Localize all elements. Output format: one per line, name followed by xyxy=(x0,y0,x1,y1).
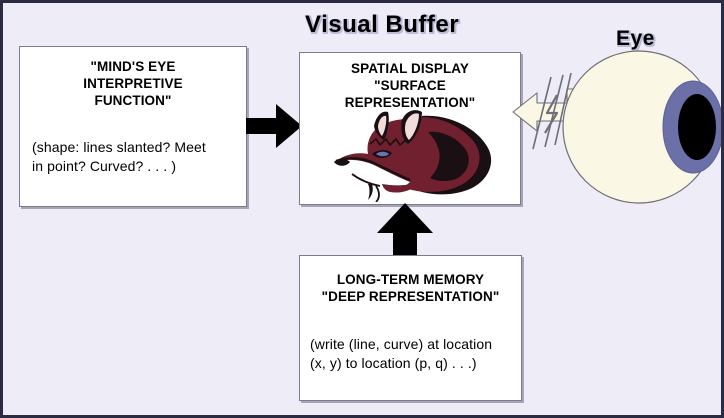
box-long-term-memory-title-line-2: "DEEP REPRESENTATION" xyxy=(306,288,515,305)
box-minds-eye-body-line-2: in point? Curved? . . . ) xyxy=(32,157,234,176)
diagram-canvas: Visual Buffer Eye "MIND'S EYE INTERPRETI… xyxy=(0,0,724,418)
eye-illustration-group xyxy=(511,49,723,207)
box-minds-eye-title-line-2: INTERPRETIVE xyxy=(26,75,240,92)
box-long-term-memory-body: (write (line, curve) at location (x, y) … xyxy=(310,335,511,373)
arrow-long-term-memory-to-spatial-display xyxy=(377,203,433,259)
box-long-term-memory-body-line-1: (write (line, curve) at location xyxy=(310,335,511,354)
box-minds-eye-title-line-3: FUNCTION" xyxy=(26,92,240,109)
box-minds-eye-interpretive-function: "MIND'S EYE INTERPRETIVE FUNCTION" (shap… xyxy=(19,46,247,207)
wolf-head-mascot-icon xyxy=(326,110,498,202)
box-minds-eye-title-line-1: "MIND'S EYE xyxy=(26,58,240,75)
eyeball-pupil xyxy=(678,94,716,160)
box-long-term-memory-title-line-1: LONG-TERM MEMORY xyxy=(306,271,515,288)
page-title-visual-buffer: Visual Buffer xyxy=(305,11,459,39)
box-spatial-display-title-line-1: SPATIAL DISPLAY xyxy=(306,60,514,77)
box-long-term-memory: LONG-TERM MEMORY "DEEP REPRESENTATION" (… xyxy=(299,255,522,401)
box-spatial-display-title: SPATIAL DISPLAY "SURFACE REPRESENTATION" xyxy=(306,60,514,111)
arrow-minds-eye-to-spatial-display xyxy=(246,104,302,148)
box-spatial-display: SPATIAL DISPLAY "SURFACE REPRESENTATION" xyxy=(299,52,521,205)
box-long-term-memory-body-line-2: (x, y) to location (p, q) . . .) xyxy=(310,354,511,373)
box-long-term-memory-title: LONG-TERM MEMORY "DEEP REPRESENTATION" xyxy=(306,271,515,305)
box-minds-eye-body: (shape: lines slanted? Meet in point? Cu… xyxy=(32,138,234,176)
box-spatial-display-title-line-2: "SURFACE xyxy=(306,77,514,94)
box-minds-eye-body-line-1: (shape: lines slanted? Meet xyxy=(32,138,234,157)
box-minds-eye-title: "MIND'S EYE INTERPRETIVE FUNCTION" xyxy=(26,58,240,109)
page-title-eye: Eye xyxy=(616,27,655,51)
box-spatial-display-title-line-3: REPRESENTATION" xyxy=(306,94,514,111)
